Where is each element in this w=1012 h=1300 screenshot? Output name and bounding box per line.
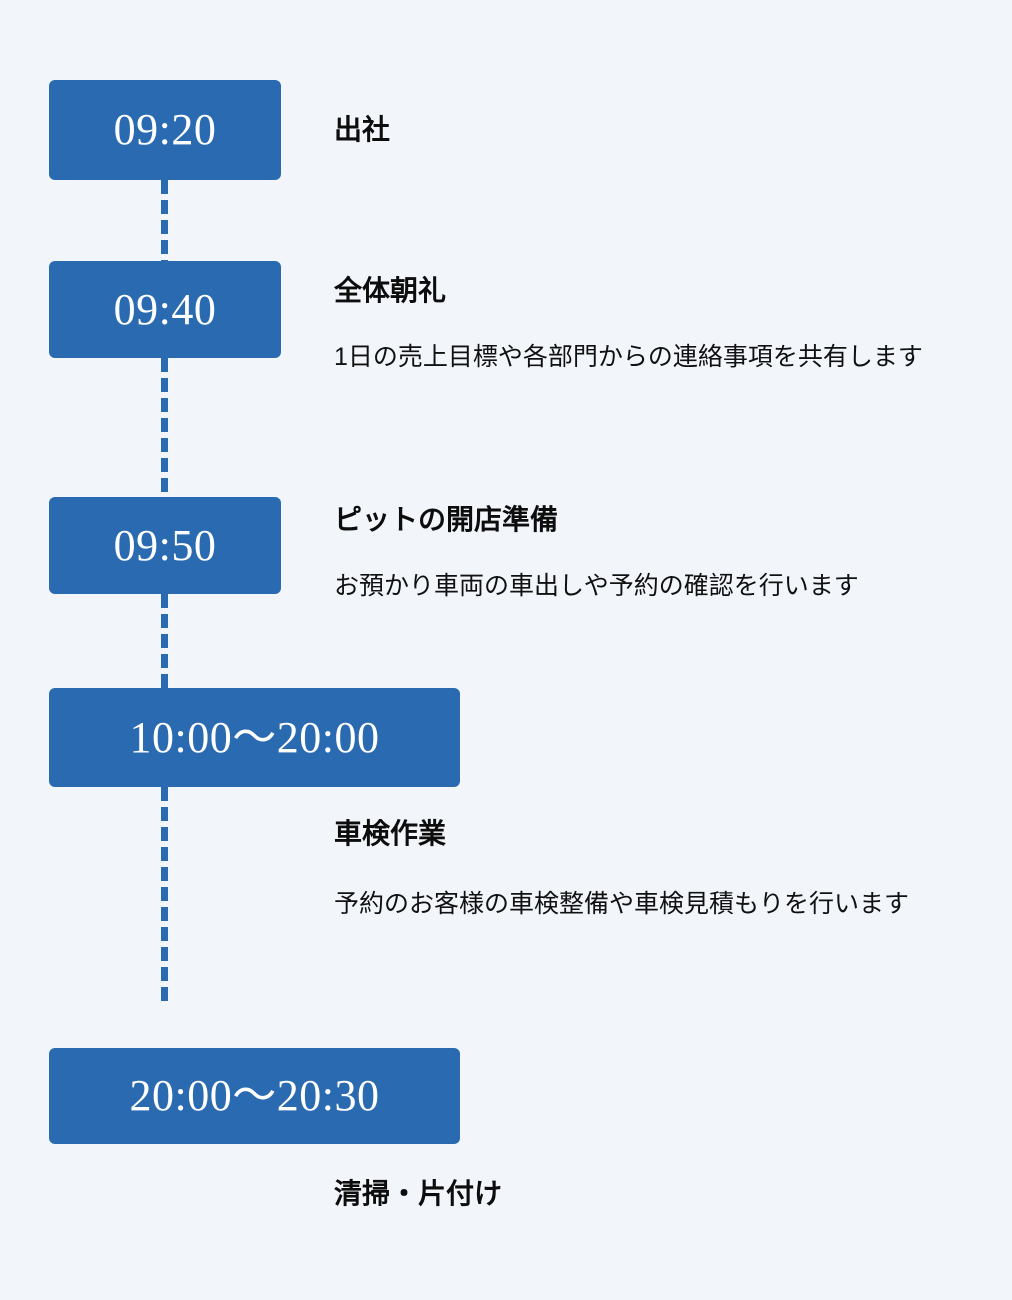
daily-schedule-timeline: 09:20 出社 09:40 全体朝礼 1日の売上目標や各部門からの連絡事項を共… [0,0,1012,1300]
timeline-connector-2 [161,358,168,498]
timeline-time-badge[interactable]: 20:00〜20:30 [49,1048,460,1144]
timeline-time-badge[interactable]: 10:00〜20:00 [49,688,460,787]
timeline-time-badge[interactable]: 09:50 [49,497,281,594]
timeline-connector-4 [161,787,168,1007]
timeline-entry-description: お預かり車両の車出しや予約の確認を行います [334,566,974,607]
timeline-connector-1 [161,180,168,262]
timeline-entry-title: 出社 [334,113,390,147]
timeline-entry-title: 車検作業 [334,817,446,851]
timeline-entry-title: 清掃・片付け [334,1177,502,1211]
timeline-entry-description: 予約のお客様の車検整備や車検見積もりを行います [334,884,968,925]
timeline-time-badge[interactable]: 09:20 [49,80,281,180]
timeline-connector-3 [161,594,168,688]
timeline-entry-title: ピットの開店準備 [334,503,558,537]
timeline-entry-description: 1日の売上目標や各部門からの連絡事項を共有します [334,337,968,378]
timeline-time-badge[interactable]: 09:40 [49,261,281,358]
timeline-entry-title: 全体朝礼 [334,274,446,308]
